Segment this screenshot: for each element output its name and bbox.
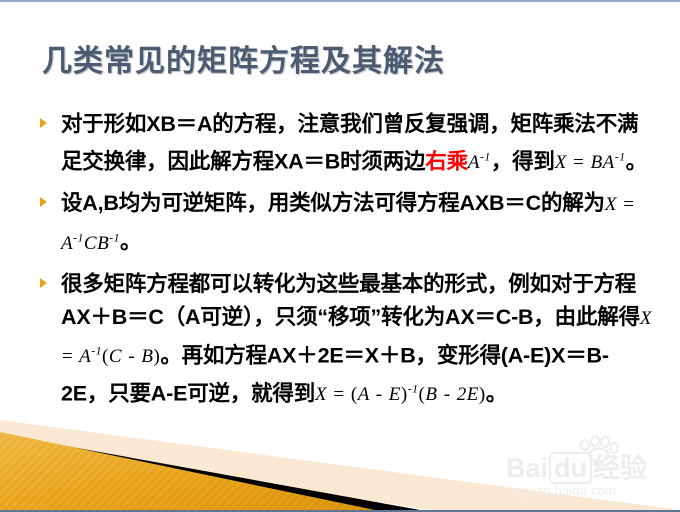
bullet-2-seg-1: 设A,B均为可逆矩阵，用类似方法可得方程AXB＝C的解为 [61, 191, 605, 215]
triangle-right-icon [40, 197, 47, 207]
watermark-url: jingyan.baidu.com [508, 483, 616, 498]
bullet-item-2: 设A,B均为可逆矩阵，用类似方法可得方程AXB＝C的解为X = A-1CB-1。 [38, 187, 652, 259]
baidu-logo: Baidu经验 [506, 446, 647, 485]
baidu-jingyan-watermark: Baidu经验 jingyan.baidu.com [506, 442, 666, 498]
triangle-right-icon [40, 278, 47, 288]
bullet-3-seg-3: 。 [486, 381, 507, 405]
bullet-item-3: 很多矩阵方程都可以转化为这些最基本的形式，例如对于方程AX＋B＝C（A可逆），只… [38, 268, 652, 412]
bullet-3-math-2: X = (A - E)-1(B - 2E) [315, 384, 486, 405]
bullet-1-math-2: X = BA-1 [555, 152, 626, 173]
bullet-1-math-1: A-1 [468, 152, 491, 173]
slide-title: 几类常见的矩阵方程及其解法 [42, 36, 445, 80]
bullet-item-1: 对于形如XB＝A的方程，注意我们曾反复强调，矩阵乘法不满足交换律，因此解方程XA… [38, 108, 652, 179]
presentation-slide: 几类常见的矩阵方程及其解法 对于形如XB＝A的方程，注意我们曾反复强调，矩阵乘法… [0, 0, 680, 512]
bullet-3-seg-1: 很多矩阵方程都可以转化为这些最基本的形式，例如对于方程AX＋B＝C（A可逆），只… [61, 272, 640, 329]
bullet-1-seg-3: 。 [626, 149, 647, 173]
slide-body: 对于形如XB＝A的方程，注意我们曾反复强调，矩阵乘法不满足交换律，因此解方程XA… [38, 108, 652, 419]
triangle-right-icon [40, 118, 47, 128]
bullet-1-text: 对于形如XB＝A的方程，注意我们曾反复强调，矩阵乘法不满足交换律，因此解方程XA… [61, 108, 652, 179]
bullet-2-seg-2: 。 [120, 230, 141, 254]
bullet-3-text: 很多矩阵方程都可以转化为这些最基本的形式，例如对于方程AX＋B＝C（A可逆），只… [61, 268, 652, 412]
bullet-2-text: 设A,B均为可逆矩阵，用类似方法可得方程AXB＝C的解为X = A-1CB-1。 [61, 187, 652, 259]
bullet-1-seg-2: ，得到 [491, 149, 555, 173]
bullet-1-highlight: 右乘 [425, 149, 468, 173]
paw-print-icon [578, 436, 620, 462]
logo-text-bai: Bai [506, 453, 548, 483]
